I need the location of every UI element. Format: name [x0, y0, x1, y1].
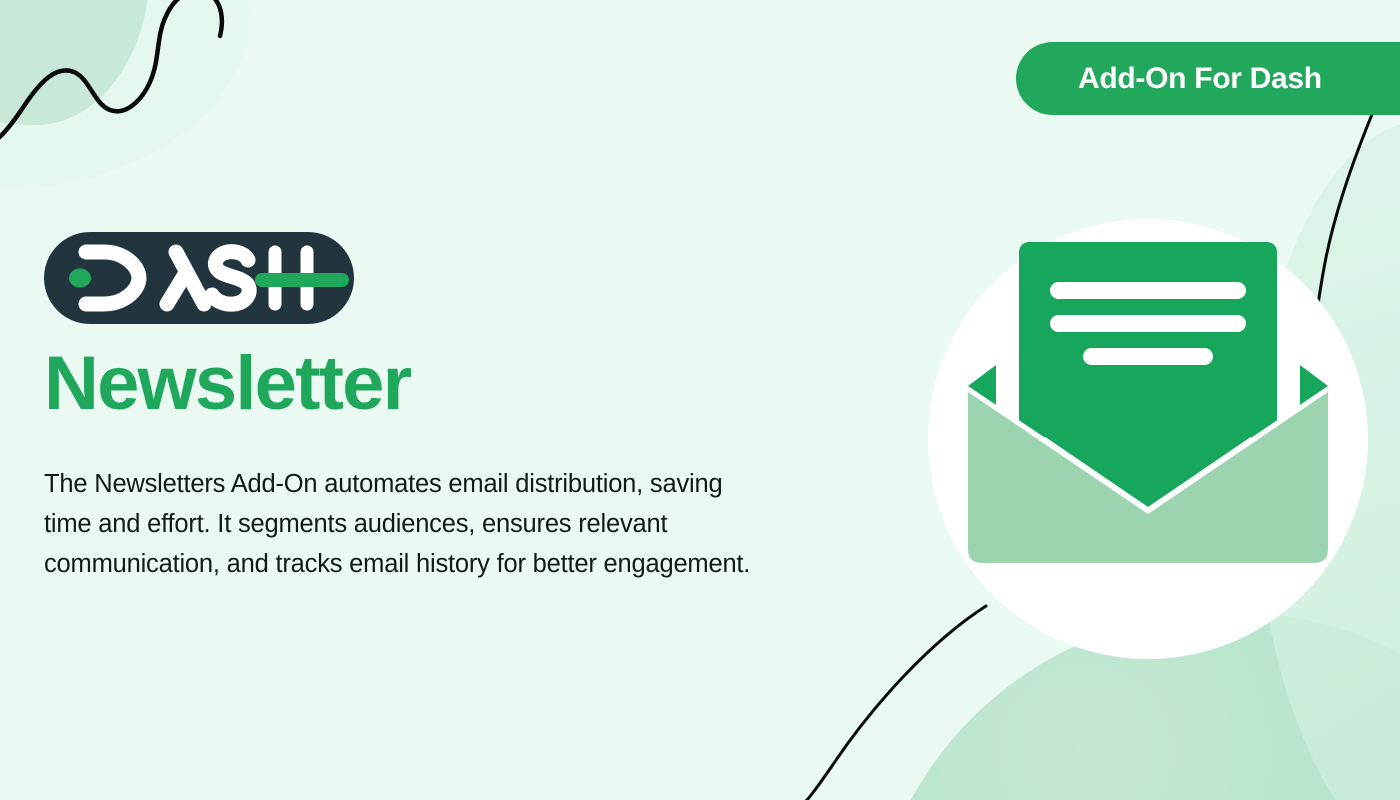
page-title: Newsletter [44, 346, 804, 422]
dash-logo [44, 232, 354, 324]
top-left-wavy-line-icon [0, 0, 230, 180]
letter-line-2 [1050, 315, 1246, 332]
content-column: Newsletter The Newsletters Add-On automa… [44, 232, 804, 584]
newsletter-illustration [928, 219, 1368, 659]
letter-line-3 [1083, 348, 1213, 365]
promo-banner: Add-On For Dash Newslett [0, 0, 1400, 800]
dash-wordmark-icon [44, 232, 354, 324]
letter-line-1 [1050, 282, 1246, 299]
addon-badge: Add-On For Dash [1016, 42, 1400, 115]
open-envelope-newsletter-icon [928, 219, 1368, 659]
description-text: The Newsletters Add-On automates email d… [44, 464, 774, 584]
addon-badge-label: Add-On For Dash [1078, 62, 1322, 96]
